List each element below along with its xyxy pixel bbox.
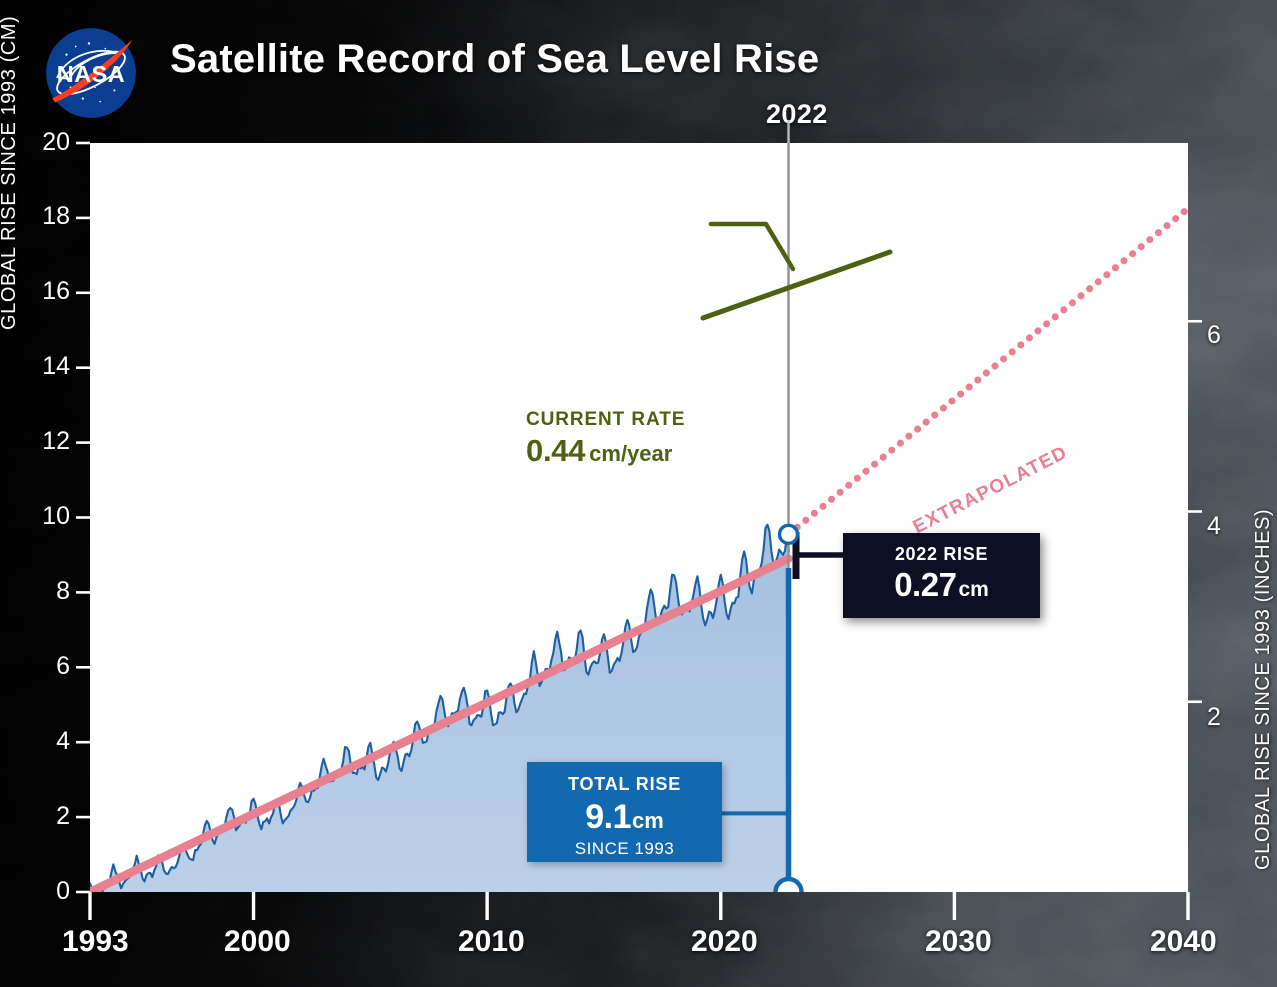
y-tick-label-4: 4 — [20, 727, 70, 756]
current-rate-unit: cm/year — [589, 441, 672, 466]
y-tick-label-12: 12 — [20, 427, 70, 456]
current-rate-annotation: CURRENT RATE 0.44cm/year — [526, 409, 685, 469]
total-rise-callout: TOTAL RISE 9.1cm SINCE 1993 — [527, 762, 722, 862]
y-tick-label-0: 0 — [20, 877, 70, 906]
x-tick-label-2010: 2010 — [458, 925, 525, 959]
rise-2022-value-wrap: 0.27cm — [843, 566, 1040, 604]
x-tick-label-2040: 2040 — [1150, 925, 1217, 959]
baseline-marker — [776, 879, 802, 892]
y-tick-label-right-6: 6 — [1207, 321, 1221, 350]
y-tick-label-6: 6 — [20, 652, 70, 681]
current-rate-tangent-line — [703, 252, 890, 318]
y-tick-label-18: 18 — [20, 202, 70, 231]
current-rate-leader-line — [711, 224, 793, 269]
extrapolated-label: EXTRAPOLATED — [910, 442, 1072, 538]
page-title: Satellite Record of Sea Level Rise — [170, 37, 819, 82]
x-tick-label-1993: 1993 — [62, 925, 129, 959]
rise-2022-title: 2022 RISE — [843, 544, 1040, 565]
x-tick-label-2030: 2030 — [925, 925, 992, 959]
y-axis-label-right: GLOBAL RISE SINCE 1993 (INCHES) — [1252, 310, 1275, 870]
total-rise-unit: cm — [632, 808, 664, 833]
endpoint-marker-2022 — [780, 525, 798, 543]
y-tick-label-right-4: 4 — [1207, 512, 1221, 541]
rise-2022-value: 0.27 — [894, 566, 956, 603]
current-rate-value-wrap: 0.44cm/year — [526, 433, 685, 469]
current-rate-value: 0.44 — [526, 433, 585, 468]
year-marker-label-2022: 2022 — [766, 99, 828, 130]
x-tick-label-2000: 2000 — [224, 925, 291, 959]
y-axis-label-left: GLOBAL RISE SINCE 1993 (CM) — [0, 0, 21, 330]
sea-level-infographic: NASA Satellite Record of Sea Level Rise … — [0, 0, 1277, 987]
y-tick-label-14: 14 — [20, 352, 70, 381]
y-tick-label-20: 20 — [20, 128, 70, 157]
total-rise-value-wrap: 9.1cm — [527, 798, 722, 837]
y-tick-label-16: 16 — [20, 277, 70, 306]
header: NASA Satellite Record of Sea Level Rise — [0, 0, 1277, 128]
rise-2022-unit: cm — [958, 578, 988, 601]
total-rise-subtitle: SINCE 1993 — [527, 839, 722, 859]
y-tick-label-10: 10 — [20, 502, 70, 531]
y-tick-label-right-2: 2 — [1207, 703, 1221, 732]
total-rise-title: TOTAL RISE — [527, 774, 722, 795]
rise-2022-callout: 2022 RISE 0.27cm — [843, 533, 1040, 618]
total-rise-value: 9.1 — [585, 798, 631, 836]
svg-text:NASA: NASA — [57, 61, 126, 87]
x-tick-label-2020: 2020 — [691, 925, 758, 959]
y-tick-label-8: 8 — [20, 577, 70, 606]
current-rate-title: CURRENT RATE — [526, 409, 685, 431]
y-tick-label-2: 2 — [20, 802, 70, 831]
nasa-logo-icon: NASA — [40, 22, 142, 124]
